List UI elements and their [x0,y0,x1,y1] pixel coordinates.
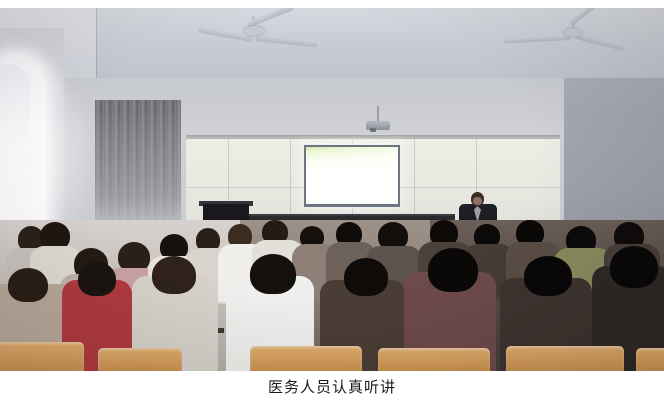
screen-surface [306,147,398,204]
speaker-face [473,197,482,205]
fan-blade [504,35,570,43]
fan-hub [564,28,582,37]
fan-blade [256,35,318,47]
fan-blade [575,33,625,51]
audience-head-front [78,262,116,296]
seat-back [0,342,84,371]
caption-bar: 医务人员认真听讲 [0,371,664,403]
ceiling-fan-icon [190,16,320,66]
audience-head-front [152,256,196,294]
projector-mount [377,106,379,122]
seat-back [506,346,624,371]
seat-back [378,348,490,371]
audience-area [0,220,664,371]
projection-screen [304,145,400,207]
top-white-margin [0,0,664,8]
projector-lens [370,128,376,132]
curtain-shading [95,100,181,230]
audience-head-front [344,258,388,296]
seat-back [250,346,362,371]
photo-caption: 医务人员认真听讲 [268,380,396,395]
audience-head-front [428,248,478,292]
lecture-hall-photo [0,8,664,371]
audience-head-front [8,268,48,302]
audience-head-front [610,246,658,288]
seat-back [636,348,664,371]
ceiling-fan-icon [498,20,628,68]
ceiling-seam [96,8,97,80]
fan-hub [244,26,264,36]
audience-head-front [250,254,296,294]
photo-page: 医务人员认真听讲 [0,0,664,403]
seat-back [98,348,182,371]
audience-head-front [524,256,572,296]
